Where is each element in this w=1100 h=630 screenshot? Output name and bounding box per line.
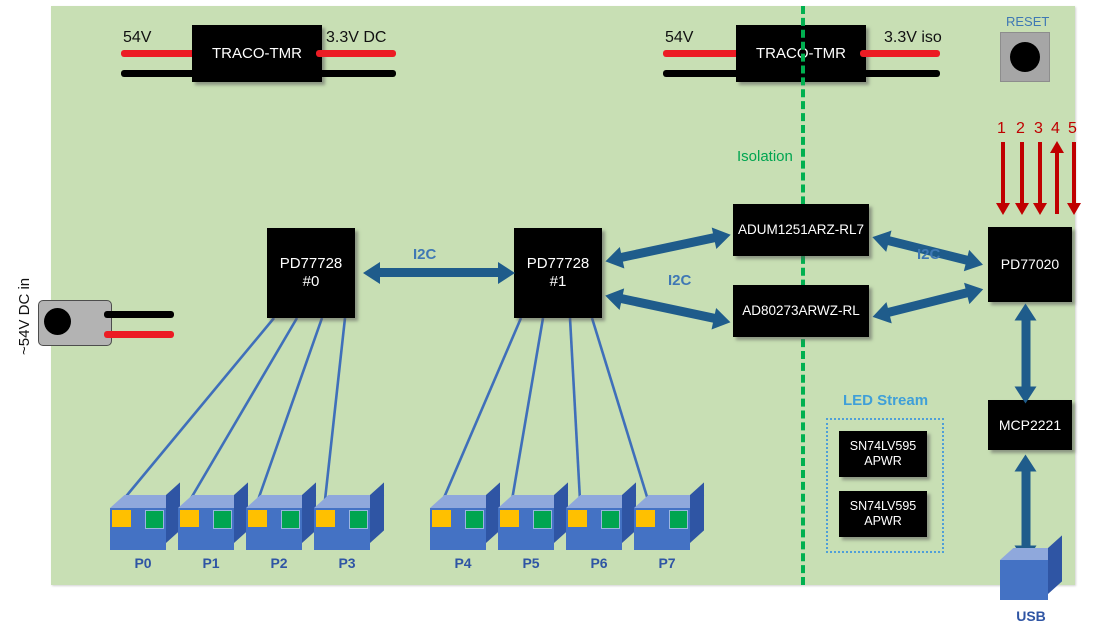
port-connector-p6[interactable] [566, 495, 636, 557]
numbered-arrow-2-icon [1020, 142, 1024, 204]
traco-left-output-red-wire [316, 50, 396, 57]
numbered-arrow-label-3: 3 [1034, 120, 1043, 138]
traco-right-output-black-wire [860, 70, 940, 77]
port-connector-p0[interactable] [110, 495, 180, 557]
usb-front-face [1000, 560, 1048, 600]
port-side-face [370, 482, 384, 543]
dc-input-label: ~54V DC in [16, 278, 33, 355]
traco-left-output-black-wire [316, 70, 396, 77]
port-yellow-led-icon [180, 510, 199, 527]
port-connector-p7[interactable] [634, 495, 704, 557]
chip-pd77728-0-line2: #0 [303, 273, 320, 291]
chip-sn74lv595-1[interactable]: SN74LV595 APWR [839, 431, 927, 477]
barrel-jack-hole-icon [44, 308, 71, 335]
usb-label: USB [1000, 608, 1062, 624]
numbered-arrow-3-icon [1038, 142, 1042, 204]
chip-ad80273-label: AD80273ARWZ-RL [742, 303, 860, 319]
chip-pd77728-1-line1: PD77728 [527, 255, 590, 273]
numbered-arrow-label-2: 2 [1016, 120, 1025, 138]
port-label-p2: P2 [244, 555, 314, 571]
chip-pd77728-1-line2: #1 [550, 273, 567, 291]
traco-right-output-red-wire [860, 50, 940, 57]
port-yellow-led-icon [316, 510, 335, 527]
port-label-p7: P7 [632, 555, 702, 571]
arrow-mcp2221-to-usb [1022, 471, 1031, 547]
reset-label: RESET [1006, 14, 1049, 29]
port-green-led-icon [669, 510, 688, 529]
chip-sn74lv595-2-line2: APWR [864, 514, 902, 529]
port-green-led-icon [213, 510, 232, 529]
diagram-canvas: ~54V DC in 54V TRACO-TMR 3.3V DC 54V TRA… [0, 0, 1100, 630]
traco-left-output-label: 3.3V DC [326, 29, 386, 47]
traco-left-input-red-wire [121, 50, 201, 57]
port-connector-p2[interactable] [246, 495, 316, 557]
chip-traco-left[interactable]: TRACO-TMR [192, 25, 322, 82]
port-green-led-icon [145, 510, 164, 529]
port-yellow-led-icon [636, 510, 655, 527]
port-yellow-led-icon [568, 510, 587, 527]
traco-right-input-red-wire [663, 50, 743, 57]
chip-traco-left-label: TRACO-TMR [212, 45, 302, 63]
i2c-label-between-pd77728: I2C [413, 246, 436, 263]
port-connector-p5[interactable] [498, 495, 568, 557]
port-green-led-icon [465, 510, 484, 529]
isolation-label: Isolation [737, 148, 793, 165]
chip-mcp2221[interactable]: MCP2221 [988, 400, 1072, 450]
led-stream-label: LED Stream [843, 392, 928, 409]
chip-ad80273[interactable]: AD80273ARWZ-RL [733, 285, 869, 337]
usb-connector[interactable] [1000, 548, 1062, 606]
reset-button-dot-icon [1010, 42, 1040, 72]
numbered-arrow-label-4: 4 [1051, 120, 1060, 138]
chip-sn74lv595-2-line1: SN74LV595 [850, 499, 917, 514]
port-yellow-led-icon [432, 510, 451, 527]
arrow-pd77020-to-mcp2221 [1022, 320, 1031, 388]
port-yellow-led-icon [248, 510, 267, 527]
dc-wire-positive [104, 331, 174, 338]
numbered-arrow-4-icon [1055, 152, 1059, 214]
port-green-led-icon [281, 510, 300, 529]
traco-right-input-label: 54V [665, 29, 693, 47]
numbered-arrow-label-5: 5 [1068, 120, 1077, 138]
port-label-p6: P6 [564, 555, 634, 571]
port-yellow-led-icon [500, 510, 519, 527]
chip-pd77728-0-line1: PD77728 [280, 255, 343, 273]
numbered-arrow-5-icon [1072, 142, 1076, 204]
port-green-led-icon [349, 510, 368, 529]
port-label-p1: P1 [176, 555, 246, 571]
port-green-led-icon [533, 510, 552, 529]
port-label-p0: P0 [108, 555, 178, 571]
numbered-arrow-1-icon [1001, 142, 1005, 204]
traco-right-input-black-wire [663, 70, 743, 77]
port-label-p4: P4 [428, 555, 498, 571]
chip-sn74lv595-1-line1: SN74LV595 [850, 439, 917, 454]
i2c-label-pd77020: I2C [917, 246, 940, 263]
port-label-p3: P3 [312, 555, 382, 571]
chip-sn74lv595-1-line2: APWR [864, 454, 902, 469]
chip-mcp2221-label: MCP2221 [999, 417, 1061, 434]
i2c-label-ad80273: I2C [668, 272, 691, 289]
port-side-face [690, 482, 704, 543]
port-yellow-led-icon [112, 510, 131, 527]
port-connector-p1[interactable] [178, 495, 248, 557]
chip-pd77728-0[interactable]: PD77728 #0 [267, 228, 355, 318]
chip-pd77020-label: PD77020 [1001, 256, 1059, 273]
chip-adum1251-label: ADUM1251ARZ-RL7 [738, 222, 864, 238]
i2c-arrow-pd77728-0-to-1 [379, 268, 499, 277]
port-label-p5: P5 [496, 555, 566, 571]
traco-right-output-label: 3.3V iso [884, 29, 942, 47]
port-connector-p3[interactable] [314, 495, 384, 557]
chip-pd77728-1[interactable]: PD77728 #1 [514, 228, 602, 318]
chip-sn74lv595-2[interactable]: SN74LV595 APWR [839, 491, 927, 537]
reset-button[interactable] [1000, 32, 1050, 82]
dc-wire-negative [104, 311, 174, 318]
chip-adum1251[interactable]: ADUM1251ARZ-RL7 [733, 204, 869, 256]
traco-left-input-black-wire [121, 70, 201, 77]
traco-left-input-label: 54V [123, 29, 151, 47]
chip-pd77020[interactable]: PD77020 [988, 227, 1072, 302]
numbered-arrow-label-1: 1 [997, 120, 1006, 138]
port-green-led-icon [601, 510, 620, 529]
port-connector-p4[interactable] [430, 495, 500, 557]
